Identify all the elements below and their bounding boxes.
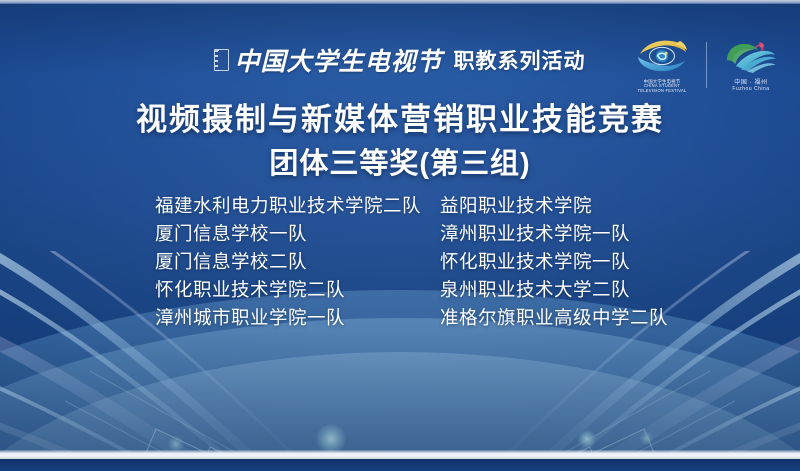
fuzhou-logo-caption: 中国 · 福州 Fuzhou China [732,80,769,93]
festival-brand-text: 中国大学生电视节 [234,42,442,78]
cstf-logo-caption: 中国大学生电视节 CHINA STUDENT TELEVISION FESTIV… [637,79,686,94]
winner-item: 漳州职业技术学院一队 [440,220,675,248]
winner-item: 益阳职业技术学院 [440,192,675,220]
festival-subtitle-text: 职教系列活动 [454,45,586,75]
logo-divider [706,42,707,88]
cstf-logo: 中国大学生电视节 CHINA STUDENT TELEVISION FESTIV… [629,37,695,94]
winners-list: 福建水利电力职业技术学院二队 益阳职业技术学院 厦门信息学校一队 漳州职业技术学… [155,192,675,332]
winner-item: 怀化职业技术学院二队 [155,276,440,304]
cstf-caption-en-line2: TELEVISION FESTIVAL [637,89,686,94]
logo-group: 中国大学生电视节 CHINA STUDENT TELEVISION FESTIV… [629,32,784,98]
china-student-television-festival-logo-icon [636,37,688,77]
winner-item: 福建水利电力职业技术学院二队 [155,192,440,220]
winner-item: 准格尔旗职业高级中学二队 [440,304,675,332]
presentation-slide: 中国大学生电视节职教系列活动 [0,0,800,471]
award-title: 团体三等奖(第三组) [0,140,800,182]
winner-item: 漳州城市职业学院一队 [155,304,440,332]
winner-item: 泉州职业技术大学二队 [440,276,675,304]
fuzhou-caption-en: Fuzhou China [732,87,769,93]
top-edge-strip [0,0,800,4]
winner-item: 怀化职业技术学院一队 [440,248,675,276]
bottom-light-band [0,450,800,459]
winner-item: 厦门信息学校二队 [155,248,440,276]
winner-item: 厦门信息学校一队 [155,220,440,248]
bottom-dark-band [0,459,800,471]
fuzhou-china-logo-icon [724,38,778,78]
fuzhou-logo: 中国 · 福州 Fuzhou China [718,38,784,93]
film-strip-icon [214,49,229,71]
competition-title: 视频摄制与新媒体营销职业技能竞赛 [0,94,800,139]
